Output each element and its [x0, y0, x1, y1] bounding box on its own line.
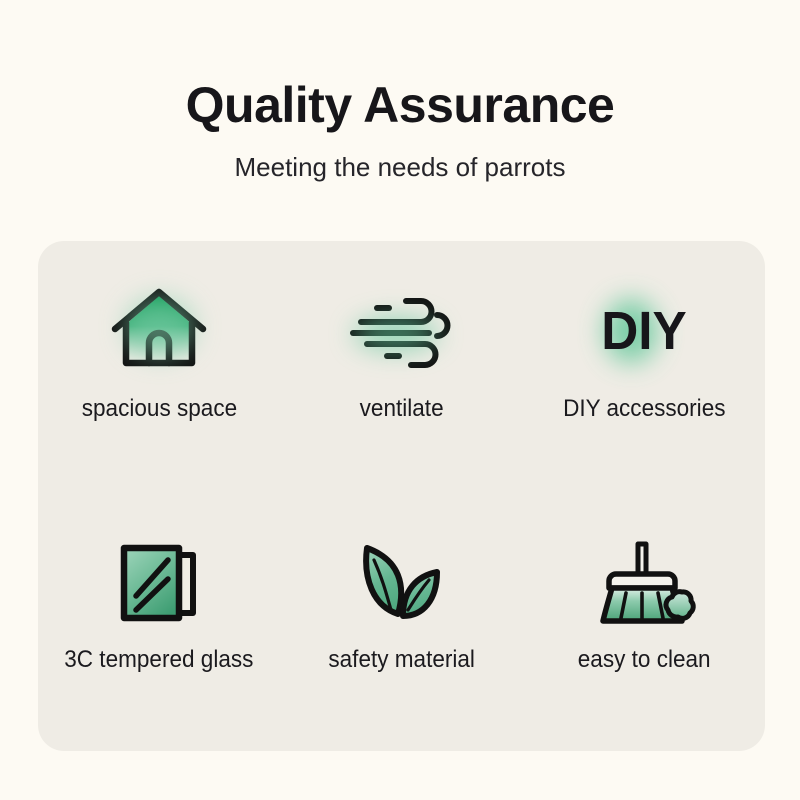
feature-label: ventilate: [360, 395, 444, 423]
feature-spacious-space: spacious space: [38, 241, 280, 496]
page-subtitle: Meeting the needs of parrots: [0, 133, 800, 182]
house-icon-wrap: [99, 283, 219, 379]
feature-safety-material: safety material: [280, 496, 522, 751]
features-card: spacious space: [38, 241, 765, 751]
feature-label: easy to clean: [577, 646, 710, 674]
feature-3c-tempered-glass: 3C tempered glass: [38, 496, 280, 751]
features-grid: spacious space: [38, 241, 765, 751]
page-header: Quality Assurance Meeting the needs of p…: [0, 0, 800, 182]
feature-diy-accessories: DIY DIY accessories: [523, 241, 765, 496]
wind-icon-wrap: [341, 283, 461, 379]
house-icon: [109, 285, 209, 377]
feature-label: 3C tempered glass: [65, 646, 254, 674]
wind-icon: [349, 291, 453, 371]
quality-assurance-page: Quality Assurance Meeting the needs of p…: [0, 0, 800, 800]
broom-icon: [594, 536, 694, 628]
diy-text-icon: DIY: [601, 300, 687, 362]
leaves-icon: [353, 538, 449, 626]
feature-ventilate: ventilate: [280, 241, 522, 496]
diy-icon-wrap: DIY: [584, 283, 704, 379]
glass-icon-wrap: [99, 534, 219, 630]
feature-label: DIY accessories: [563, 395, 725, 423]
feature-easy-to-clean: easy to clean: [523, 496, 765, 751]
page-title: Quality Assurance: [0, 0, 800, 133]
glass-panels-icon: [111, 538, 207, 626]
leaves-icon-wrap: [341, 534, 461, 630]
feature-label: safety material: [328, 646, 475, 674]
feature-label: spacious space: [81, 395, 236, 423]
broom-icon-wrap: [584, 534, 704, 630]
